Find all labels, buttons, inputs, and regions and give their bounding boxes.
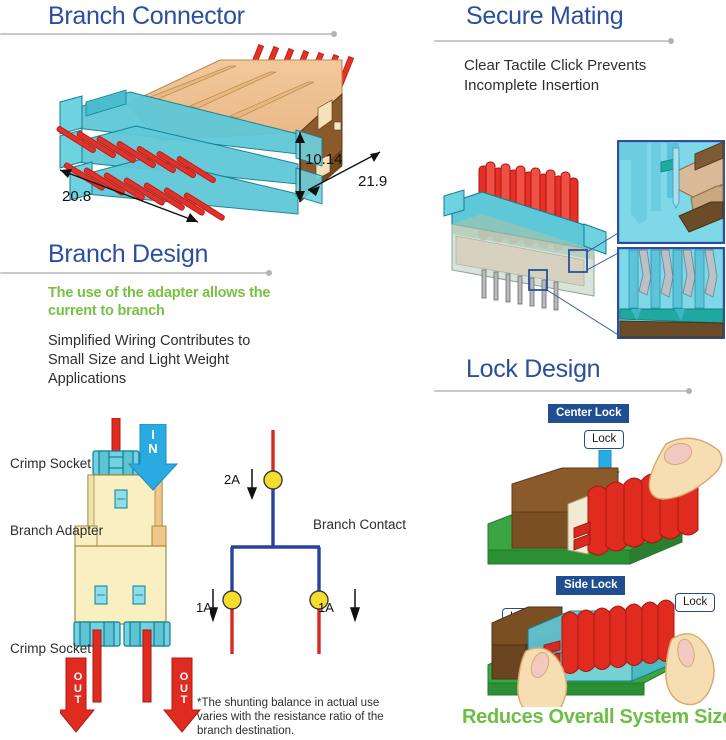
section-title-branch-connector: Branch Connector xyxy=(48,2,245,31)
divider-secure-mating xyxy=(434,40,672,42)
divider-branch-design xyxy=(0,272,270,274)
lock-design-tagline: Reduces Overall System Size xyxy=(462,706,726,729)
branch-circuit-schematic xyxy=(210,430,390,660)
badge-center-lock: Center Lock xyxy=(548,404,629,423)
branch-design-highlight: The use of the adapter allows the curren… xyxy=(48,284,298,320)
current-input-label: 2A xyxy=(224,472,240,487)
divider-lock-design xyxy=(434,390,690,392)
side-lock-illustration xyxy=(470,595,726,707)
in-arrow-label: IN xyxy=(143,428,163,456)
label-branch-contact: Branch Contact xyxy=(313,516,406,533)
depth-dimension-label: 21.9 xyxy=(358,173,387,190)
current-branch-left-label: 1A xyxy=(196,600,212,615)
detail-zoom-upper xyxy=(617,140,725,244)
divider-branch-connector xyxy=(0,33,335,35)
width-dimension-label: 20.8 xyxy=(62,188,91,205)
section-title-secure-mating: Secure Mating xyxy=(466,2,623,31)
badge-side-lock: Side Lock xyxy=(556,576,625,595)
section-title-branch-design: Branch Design xyxy=(48,240,208,269)
label-crimp-socket-top: Crimp Socket xyxy=(10,455,91,472)
branch-design-footnote: *The shunting balance in actual use vari… xyxy=(197,696,387,738)
label-branch-adapter: Branch Adapter xyxy=(10,522,103,539)
branch-design-body: Simplified Wiring Contributes to Small S… xyxy=(48,332,288,389)
center-lock-illustration xyxy=(470,432,726,584)
detail-zoom-lower xyxy=(617,247,725,339)
out-arrow-right-label: OUT xyxy=(175,672,193,707)
product-feature-sheet: Branch Connector xyxy=(0,0,726,740)
label-crimp-socket-bottom: Crimp Socket xyxy=(10,640,91,657)
height-dimension-label: 10.14 xyxy=(305,151,343,168)
section-title-lock-design: Lock Design xyxy=(466,355,600,384)
current-branch-right-label: 1A xyxy=(318,600,334,615)
secure-mating-body: Clear Tactile Click Prevents Incomplete … xyxy=(464,56,679,96)
out-arrow-left-label: OUT xyxy=(69,672,87,707)
